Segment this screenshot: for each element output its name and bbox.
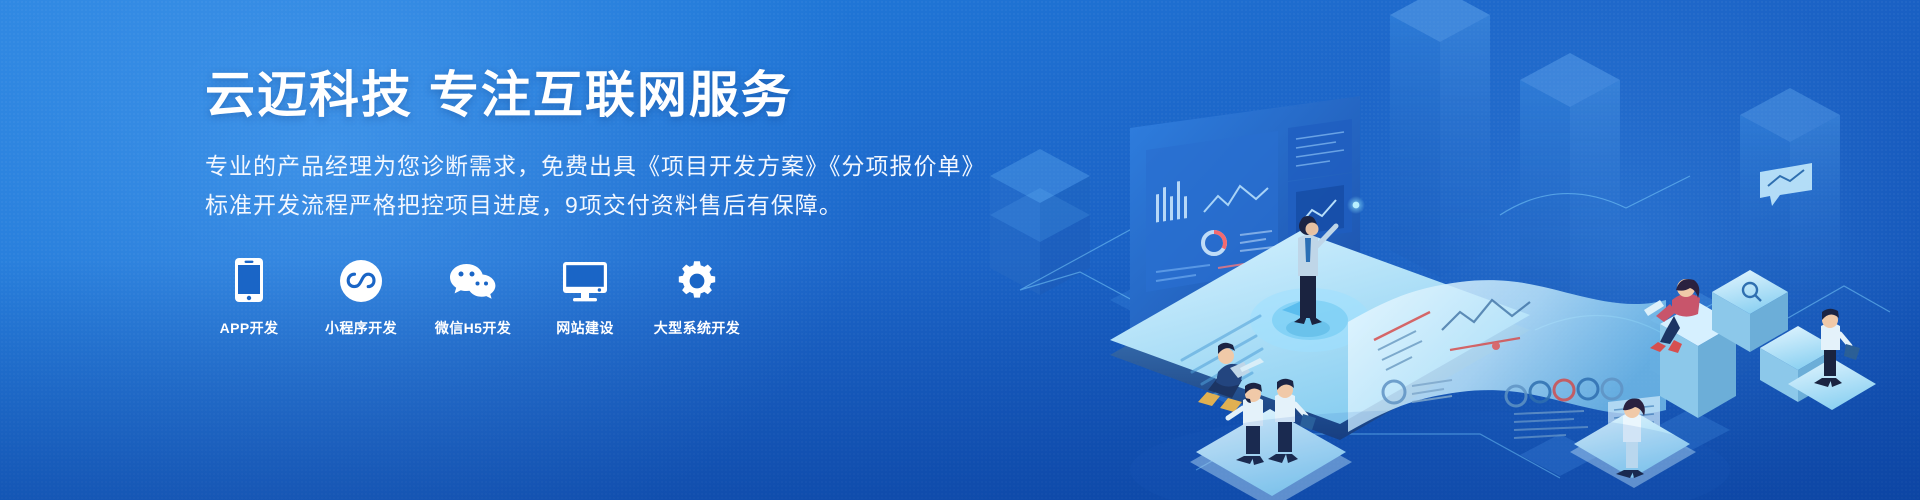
mini-program-icon [340,256,382,302]
subtitle-line-1: 专业的产品经理为您诊断需求，免费出具《项目开发方案》《分项报价单》 [205,149,965,184]
service-label-mini-program: 小程序开发 [325,318,397,338]
page-title: 云迈科技 专注互联网服务 [205,68,965,123]
service-label-wechat-h5: 微信H5开发 [435,318,511,338]
banner-content: 云迈科技 专注互联网服务 专业的产品经理为您诊断需求，免费出具《项目开发方案》《… [205,68,965,338]
service-label-website: 网站建设 [556,318,614,338]
gear-icon [676,256,718,302]
isometric-illustration [960,0,1920,500]
service-item-mini-program[interactable]: 小程序开发 [317,256,405,338]
service-label-app: APP开发 [220,318,279,338]
service-label-large-system: 大型系统开发 [654,318,740,338]
service-list: APP开发 小程序开发 [205,256,965,338]
service-item-large-system[interactable]: 大型系统开发 [653,256,741,338]
service-item-app[interactable]: APP开发 [205,256,293,338]
monitor-icon [563,256,607,302]
wechat-icon [449,256,497,302]
service-item-wechat-h5[interactable]: 微信H5开发 [429,256,517,338]
hero-banner: 云迈科技 专注互联网服务 专业的产品经理为您诊断需求，免费出具《项目开发方案》《… [0,0,1920,500]
subtitle-line-2: 标准开发流程严格把控项目进度，9项交付资料售后有保障。 [205,188,965,223]
mobile-phone-icon [235,256,263,302]
service-item-website[interactable]: 网站建设 [541,256,629,338]
